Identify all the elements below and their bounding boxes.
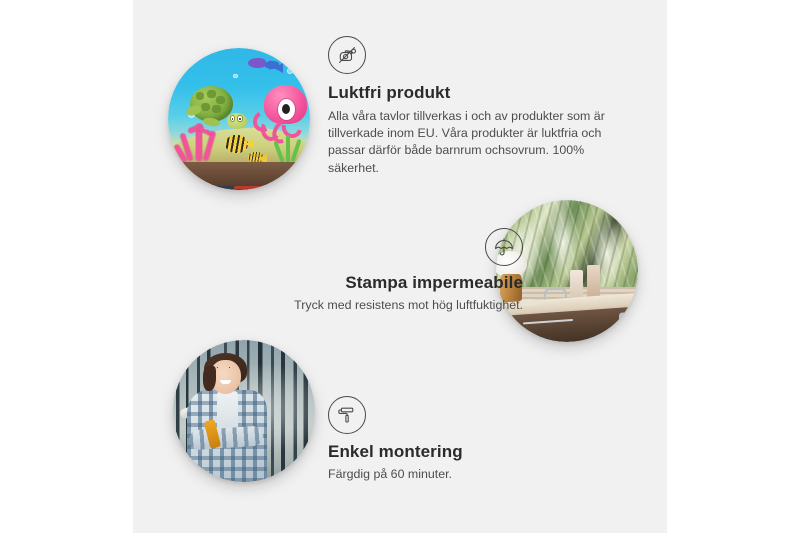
painter-hair-side bbox=[203, 366, 216, 392]
feature-waterproof-print: Stampa impermeabile Tryck med resistens … bbox=[193, 228, 523, 314]
underwater-scene-artwork bbox=[168, 48, 310, 190]
feature-image-painter-woman-forest bbox=[173, 340, 315, 482]
seabed-object bbox=[261, 186, 283, 190]
feature-title: Luktfri produkt bbox=[328, 82, 633, 103]
feature-icon-wrap bbox=[193, 228, 523, 266]
umbrella-icon bbox=[485, 228, 523, 266]
turtle-shell bbox=[190, 86, 233, 121]
coral-icon bbox=[177, 122, 222, 165]
feature-easy-mounting: Enkel montering Färgdig på 60 minuter. bbox=[328, 396, 628, 483]
bubble-icon bbox=[233, 74, 237, 78]
seabed-object bbox=[234, 186, 262, 190]
feature-title: Enkel montering bbox=[328, 441, 628, 462]
paint-roller-icon bbox=[328, 396, 366, 434]
feature-title: Stampa impermeabile bbox=[193, 272, 523, 293]
fish-yellow-icon bbox=[225, 135, 248, 153]
feature-description: Tryck med resistens mot hög luftfuktighe… bbox=[193, 297, 523, 314]
painter-photo bbox=[173, 340, 315, 482]
ocean-floor bbox=[168, 162, 310, 190]
infographic-stage: Luktfri produkt Alla våra tavlor tillver… bbox=[0, 0, 800, 533]
infographic-canvas: Luktfri produkt Alla våra tavlor tillver… bbox=[133, 0, 667, 533]
turtle-head bbox=[227, 113, 247, 129]
fish-blue-icon bbox=[265, 61, 279, 70]
feature-description: Färgdig på 60 minuter. bbox=[328, 466, 628, 483]
feature-description: Alla våra tavlor tillverkas i och av pro… bbox=[328, 108, 633, 176]
feature-odor-free: Luktfri produkt Alla våra tavlor tillver… bbox=[328, 36, 633, 177]
no-fragrance-icon bbox=[328, 36, 366, 74]
bathroom-bottle bbox=[570, 270, 583, 300]
feature-image-underwater-kids-scene bbox=[168, 48, 310, 190]
fish-purple-icon bbox=[248, 58, 266, 68]
bubble-icon bbox=[287, 68, 293, 74]
sea-plant-icon bbox=[273, 133, 304, 164]
